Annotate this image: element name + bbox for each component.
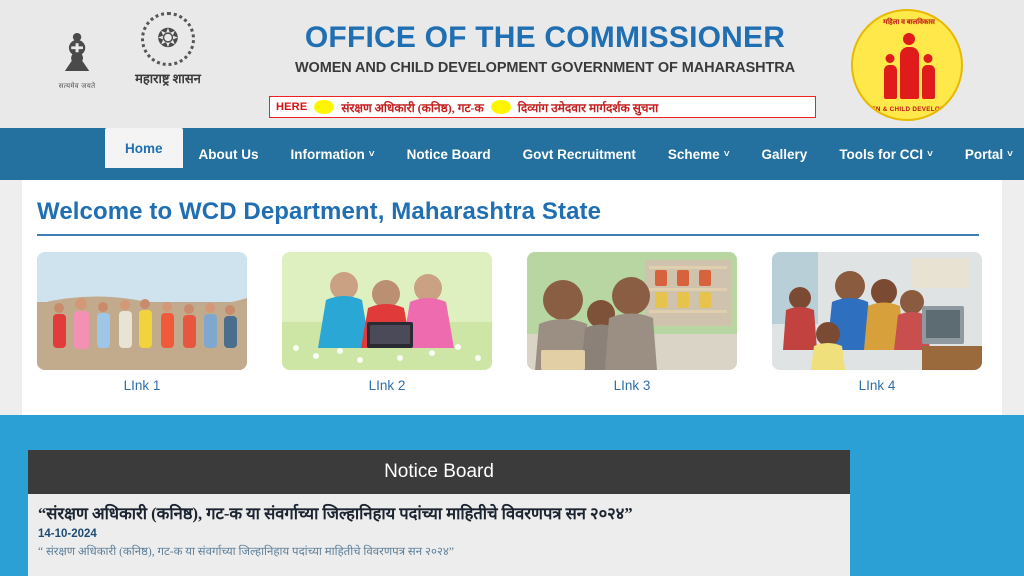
- site-header: ♝ सत्यमेव जयते ❂ महाराष्ट्र शासन OFFICE …: [0, 0, 1024, 128]
- nav-item-label: Home: [125, 141, 163, 156]
- nav-item-label: Gallery: [762, 147, 808, 162]
- nav-item-gallery[interactable]: Gallery: [746, 128, 824, 180]
- nav-item-label: Scheme: [668, 147, 720, 162]
- link-card-label[interactable]: LInk 1: [37, 378, 247, 393]
- page-subtitle: WOMEN AND CHILD DEVELOPMENT GOVERNMENT O…: [245, 60, 845, 76]
- content-area: Welcome to WCD Department, Maharashtra S…: [0, 180, 1024, 415]
- maharashtra-seal-glyph: ❂: [141, 12, 195, 66]
- nav-item-label: Information: [291, 147, 365, 162]
- maharashtra-seal-label: महाराष्ट्र शासन: [122, 69, 214, 87]
- link-card-label[interactable]: LInk 3: [527, 378, 737, 393]
- yellow-blink-dot-icon: [314, 100, 334, 114]
- heading-divider: [37, 234, 979, 236]
- marquee-content: HERE संरक्षण अधिकारी (कनिष्ठ), गट-क दिव्…: [270, 99, 658, 116]
- nav-item-label: Notice Board: [407, 147, 491, 162]
- wcd-logo-child-right: [922, 65, 935, 99]
- wcd-logo-child-left: [884, 65, 897, 99]
- wcd-maharashtra-logo-icon: महिला व बालविकास WOMEN & CHILD DEVELOPME…: [851, 9, 963, 121]
- photo-girls-with-laptop-in-field[interactable]: [282, 252, 492, 370]
- notice-item-date: 14-10-2024: [38, 528, 840, 540]
- nav-item-tools-for-cci[interactable]: Tools for CCI ˅: [823, 128, 949, 180]
- nav-item-label: Portal: [965, 147, 1003, 162]
- link-card-2[interactable]: LInk 2: [282, 252, 492, 393]
- notice-board-widget: Notice Board “संरक्षण अधिकारी (कनिष्ठ), …: [28, 450, 850, 576]
- notice-board-heading: Notice Board: [28, 450, 850, 494]
- photo-smiling-schoolgirls-in-classroom[interactable]: [527, 252, 737, 370]
- nav-item-about-us[interactable]: About Us: [183, 128, 275, 180]
- wcd-logo-top-text: महिला व बालविकास: [853, 18, 963, 27]
- nav-item-scheme[interactable]: Scheme ˅: [652, 128, 746, 180]
- wcd-logo-adult: [900, 47, 919, 99]
- marquee-text-1: संरक्षण अधिकारी (कनिष्ठ), गट-क: [341, 99, 483, 116]
- welcome-heading: Welcome to WCD Department, Maharashtra S…: [37, 198, 601, 226]
- header-title-block: OFFICE OF THE COMMISSIONER WOMEN AND CHI…: [245, 20, 845, 76]
- lower-section: Notice Board “संरक्षण अधिकारी (कनिष्ठ), …: [0, 415, 1024, 576]
- page-title: OFFICE OF THE COMMISSIONER: [245, 20, 845, 56]
- nav-item-notice-board[interactable]: Notice Board: [391, 128, 507, 180]
- nav-item-govt-recruitment[interactable]: Govt Recruitment: [507, 128, 652, 180]
- marquee-announcement[interactable]: HERE संरक्षण अधिकारी (कनिष्ठ), गट-क दिव्…: [269, 96, 816, 118]
- notice-item[interactable]: “संरक्षण अधिकारी (कनिष्ठ), गट-क या संवर्…: [38, 503, 840, 559]
- marquee-text-2: दिव्यांग उमेदवार मार्गदर्शक सुचना: [518, 99, 659, 116]
- page-root: ♝ सत्यमेव जयते ❂ महाराष्ट्र शासन OFFICE …: [0, 0, 1024, 576]
- wcd-logo-figures: [853, 37, 963, 99]
- nav-item-label: About Us: [199, 147, 259, 162]
- ashoka-emblem-glyph: ♝: [46, 27, 108, 81]
- photo-children-at-computer[interactable]: [772, 252, 982, 370]
- link-card-grid: LInk 1: [37, 252, 982, 393]
- nav-item-label: Tools for CCI: [839, 147, 923, 162]
- emblem-group: ♝ सत्यमेव जयते ❂ महाराष्ट्र शासन: [46, 12, 214, 91]
- nav-item-label: Govt Recruitment: [523, 147, 636, 162]
- chevron-down-icon: ˅: [724, 150, 730, 160]
- content-panel: Welcome to WCD Department, Maharashtra S…: [22, 180, 1002, 415]
- photo-group-of-children-outdoors[interactable]: [37, 252, 247, 370]
- link-card-1[interactable]: LInk 1: [37, 252, 247, 393]
- nav-item-information[interactable]: Information ˅: [275, 128, 391, 180]
- nav-item-portal[interactable]: Portal ˅: [949, 128, 1024, 180]
- ashoka-emblem-icon: ♝ सत्यमेव जयते: [46, 27, 108, 91]
- maharashtra-government-seal-icon: ❂ महाराष्ट्र शासन: [122, 12, 214, 91]
- link-card-label[interactable]: LInk 2: [282, 378, 492, 393]
- chevron-down-icon: ˅: [369, 150, 375, 160]
- wcd-logo-ring: महिला व बालविकास WOMEN & CHILD DEVELOPME…: [851, 9, 963, 121]
- wcd-logo-bottom-text: WOMEN & CHILD DEVELOPMENT: [853, 106, 963, 113]
- link-card-label[interactable]: LInk 4: [772, 378, 982, 393]
- nav-item-list: Home About Us Information ˅ Notice Board…: [105, 128, 1024, 180]
- marquee-prefix: HERE: [276, 101, 307, 113]
- link-card-3[interactable]: LInk 3: [527, 252, 737, 393]
- chevron-down-icon: ˅: [927, 150, 933, 160]
- link-card-4[interactable]: LInk 4: [772, 252, 982, 393]
- notice-board-body: “संरक्षण अधिकारी (कनिष्ठ), गट-क या संवर्…: [28, 494, 850, 576]
- notice-item-description: “ संरक्षण अधिकारी (कनिष्ठ), गट-क या संवर…: [38, 544, 840, 559]
- nav-item-home[interactable]: Home: [105, 128, 183, 168]
- main-navigation: Home About Us Information ˅ Notice Board…: [0, 128, 1024, 180]
- yellow-blink-dot-icon: [491, 100, 511, 114]
- notice-item-title[interactable]: “संरक्षण अधिकारी (कनिष्ठ), गट-क या संवर्…: [38, 503, 840, 525]
- chevron-down-icon: ˅: [1007, 150, 1013, 160]
